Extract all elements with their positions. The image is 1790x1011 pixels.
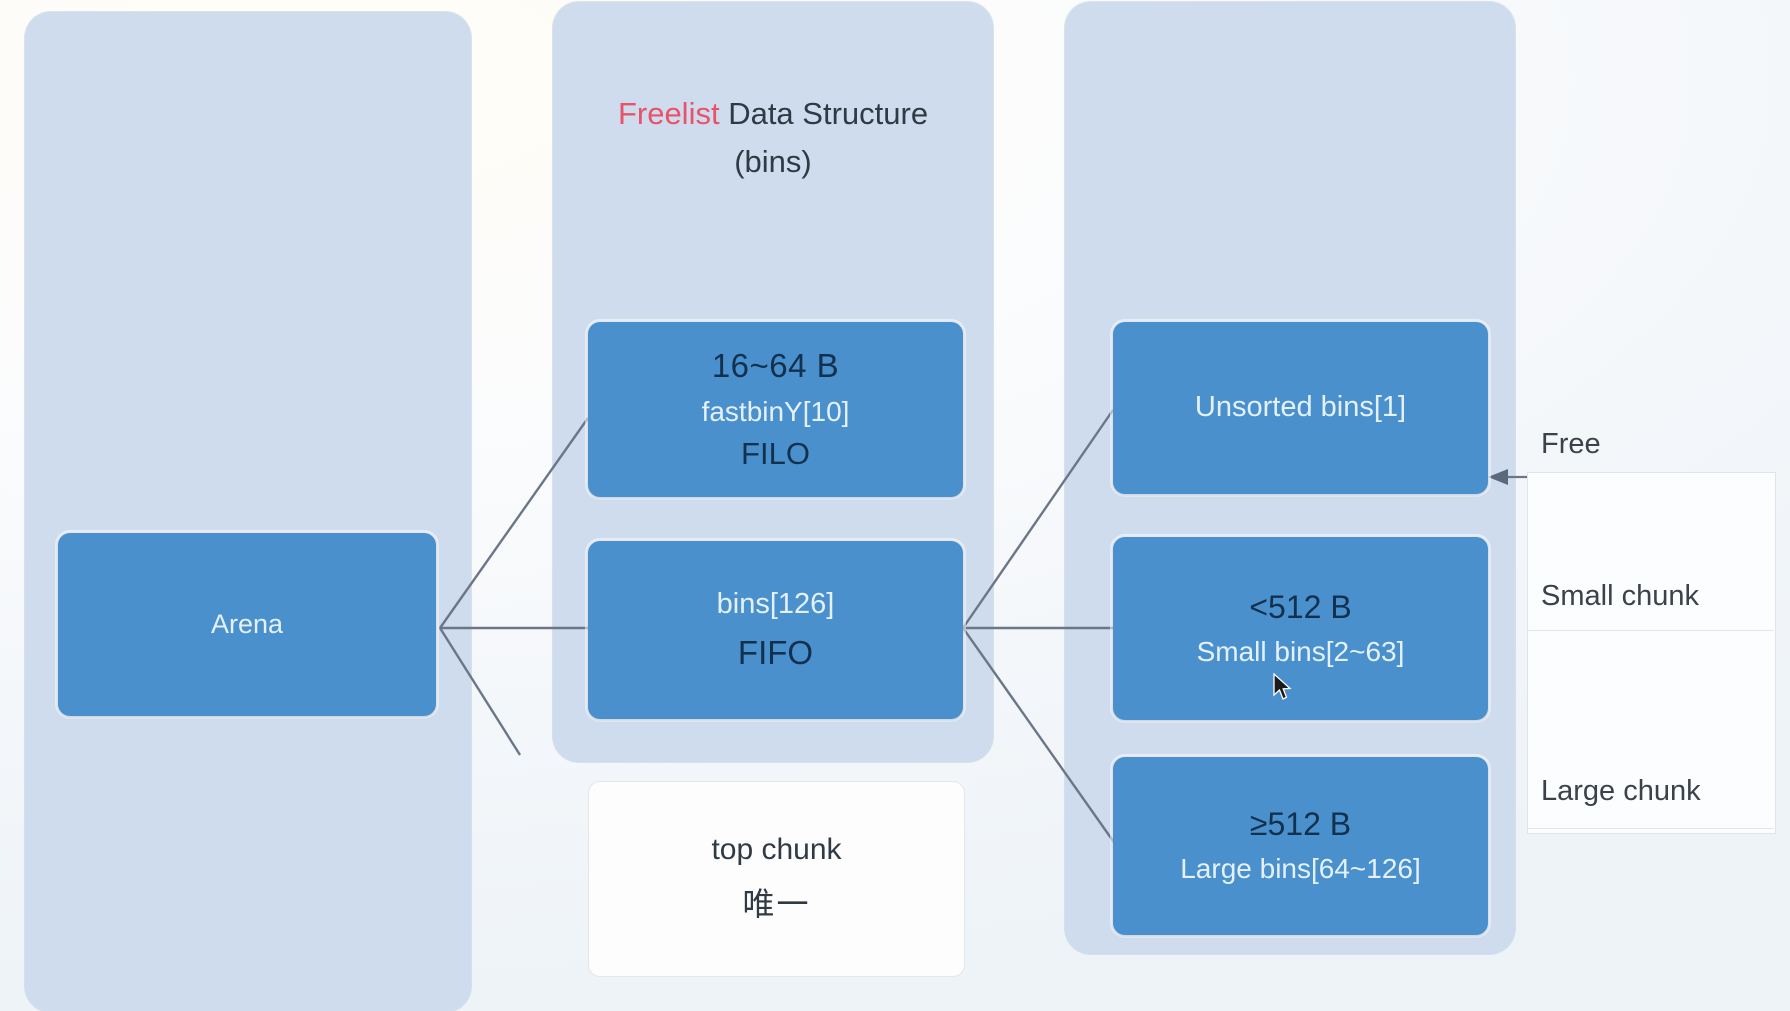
small-array: Small bins[2~63] [1197, 635, 1405, 669]
freelist-title: Freelist Data Structure (bins) [553, 90, 993, 186]
node-arena[interactable]: Arena [58, 533, 436, 716]
node-large-bins[interactable]: ≥512 B Large bins[64~126] [1113, 757, 1488, 935]
freelist-title-accent: Freelist [618, 96, 720, 131]
legend-label-free: Free [1541, 428, 1601, 461]
node-bins[interactable]: bins[126] FIFO [588, 541, 963, 719]
top-chunk-note: 唯一 [742, 879, 810, 925]
diagram-canvas: Freelist Data Structure (bins) Arena 16~… [0, 0, 1790, 1011]
fastbin-array: fastbinY[10] [702, 395, 850, 429]
freelist-subtitle: (bins) [553, 138, 993, 186]
large-array: Large bins[64~126] [1180, 852, 1421, 886]
freelist-title-rest: Data Structure [720, 96, 928, 131]
free-arrowhead [1488, 469, 1508, 485]
node-top-chunk[interactable]: top chunk 唯一 [588, 781, 965, 977]
legend-divider-1 [1527, 630, 1774, 631]
legend-divider-2 [1527, 828, 1774, 829]
legend-label-large-chunk: Large chunk [1541, 775, 1701, 808]
large-size-range: ≥512 B [1250, 805, 1351, 844]
bins-order: FIFO [738, 633, 813, 673]
top-chunk-label: top chunk [711, 833, 841, 867]
unsorted-array: Unsorted bins[1] [1195, 390, 1406, 425]
legend-label-small-chunk: Small chunk [1541, 580, 1699, 613]
fastbin-order: FILO [741, 435, 810, 473]
node-unsorted-bins[interactable]: Unsorted bins[1] [1113, 322, 1488, 494]
node-arena-label: Arena [211, 608, 283, 641]
node-small-bins[interactable]: <512 B Small bins[2~63] [1113, 537, 1488, 720]
node-fastbin[interactable]: 16~64 B fastbinY[10] FILO [588, 322, 963, 497]
freelist-title-line: Freelist Data Structure [553, 90, 993, 138]
bins-array: bins[126] [717, 587, 835, 622]
mouse-cursor-icon [1273, 673, 1295, 703]
fastbin-size-range: 16~64 B [712, 346, 839, 386]
small-size-range: <512 B [1249, 588, 1351, 627]
